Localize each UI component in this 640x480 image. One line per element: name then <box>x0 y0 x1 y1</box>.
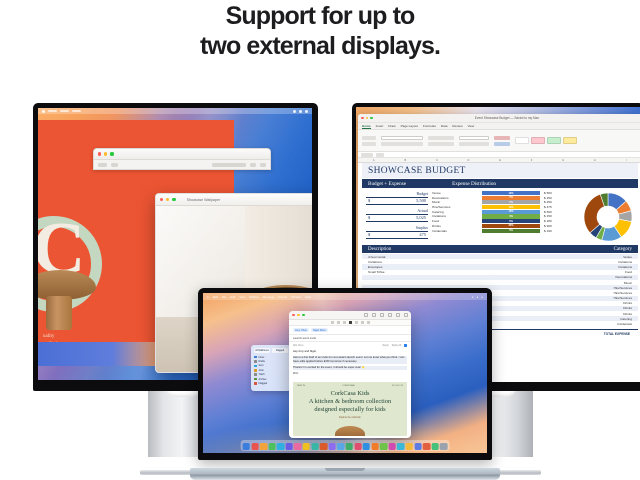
section-budget-expense: Budget + Expense <box>368 181 406 187</box>
distribution-category: Music <box>432 200 478 204</box>
sidebar-item-label: Trash <box>259 373 265 376</box>
dock-app-icon[interactable] <box>406 443 413 450</box>
recipient-chip[interactable]: Amy Chen <box>293 328 309 332</box>
cell-category: Food <box>625 270 632 274</box>
sidebar-item-label: Inbox <box>259 356 265 359</box>
menu-message[interactable]: Message <box>263 295 274 299</box>
kpi-actual-value: 5,025 <box>416 215 426 220</box>
tab-draw[interactable]: Draw <box>388 124 395 128</box>
kpi-group: Budget $ 5,500 Actual $ <box>366 191 428 243</box>
dock-app-icon[interactable] <box>414 443 421 450</box>
invite-card-attachment[interactable]: NEW IN CORKCASA 03 / 04 / 25 CorkCasa Ki… <box>293 382 407 436</box>
sidebar-item-label: Archive <box>259 378 267 381</box>
font-style-buttons[interactable] <box>381 142 423 146</box>
clock-label[interactable]: ● <box>481 295 483 299</box>
distribution-bar: 5% <box>482 219 540 223</box>
cell-category: Drinks <box>623 306 632 310</box>
mailbox-icon <box>254 373 257 376</box>
dock-app-icon[interactable] <box>268 443 275 450</box>
mail-signature: W.C. <box>293 372 407 376</box>
card-eyebrow-right: 03 / 04 / 25 <box>392 385 403 387</box>
dock-app-icon[interactable] <box>440 443 447 450</box>
font-name-input[interactable] <box>381 136 423 140</box>
list-icon[interactable] <box>355 321 358 324</box>
align-icon[interactable] <box>361 321 364 324</box>
column-d[interactable]: D <box>453 159 485 162</box>
mailbox-icon <box>254 360 257 363</box>
card-eyebrow-left: NEW IN <box>297 385 305 387</box>
forward-icon[interactable] <box>388 313 392 317</box>
mail-sender: Wei Chen <box>293 344 303 347</box>
menu-window[interactable]: Window <box>291 295 301 299</box>
column-b[interactable]: B <box>390 159 422 162</box>
conditional-group[interactable] <box>494 136 510 146</box>
mailbox-icon <box>254 365 257 368</box>
tab-review[interactable]: Review <box>452 124 462 128</box>
search-icon[interactable] <box>404 313 408 317</box>
distribution-bar: 5% <box>482 229 540 233</box>
kpi-surplus-value-row: $ 475 <box>366 232 428 240</box>
paste-icon[interactable] <box>362 136 376 140</box>
copy-icon[interactable] <box>362 142 376 146</box>
column-a[interactable]: A <box>358 159 390 162</box>
distribution-amount: $ 475 <box>544 205 574 209</box>
tab-view[interactable]: View <box>468 124 475 128</box>
cell-category: Hire/Services <box>614 296 632 300</box>
dock-app-icon[interactable] <box>363 443 370 450</box>
distribution-bar: 7% <box>482 200 540 204</box>
formula-input[interactable] <box>387 153 427 157</box>
kpi-budget-value: 5,500 <box>416 198 426 203</box>
distribution-bar: 30% <box>482 224 540 228</box>
cell-category: Hire/Services <box>614 291 632 295</box>
unread-badge <box>404 344 407 347</box>
kpi-budget: Budget $ 5,500 <box>366 191 428 205</box>
distribution-category: Decorations <box>432 196 478 200</box>
align-buttons[interactable] <box>428 136 454 140</box>
menu-item[interactable] <box>60 110 69 112</box>
card-eyebrow-center: CORKCASA <box>342 385 354 387</box>
background-app-window[interactable] <box>93 148 271 170</box>
currency-symbol: $ <box>368 215 370 220</box>
sidebar-item-label: Drafts <box>259 360 265 363</box>
tab-page-layout[interactable]: Page Layout <box>401 124 418 128</box>
table-headers: Description Category <box>362 245 638 253</box>
distribution-bar: 12% <box>482 205 540 209</box>
conditional-formatting-icon[interactable] <box>494 136 510 140</box>
wrap-merge-buttons[interactable] <box>428 142 454 146</box>
mail-actions[interactable]: Reply Reply All <box>383 344 407 347</box>
column-h[interactable]: H <box>579 159 611 162</box>
apple-logo-icon[interactable]: ● <box>207 295 209 299</box>
distribution-category: Incidentals <box>432 229 478 233</box>
battery-icon[interactable]: ● <box>477 295 479 299</box>
dock-app-icon[interactable] <box>243 443 250 450</box>
column-g[interactable]: G <box>547 159 579 162</box>
dock-app-icon[interactable] <box>320 443 327 450</box>
summary-row: Budget $ 5,500 Actual $ <box>362 188 638 243</box>
tab-insert[interactable]: Insert <box>376 124 384 128</box>
close-icon[interactable] <box>98 152 101 155</box>
cell-category: Music <box>624 281 632 285</box>
toolbar-button[interactable] <box>98 163 107 167</box>
distribution-amount: $ 250 <box>544 196 574 200</box>
cell-description: Envelopes <box>368 265 382 269</box>
distribution-bars: 13%7%7%12%13%4%5%30%5% <box>482 191 540 243</box>
distribution-bar: 13% <box>482 191 540 195</box>
dock-app-icon[interactable] <box>251 443 258 450</box>
mailbox-icon <box>254 378 257 381</box>
tab-home[interactable]: Home <box>362 124 371 129</box>
minimize-icon[interactable] <box>166 198 169 201</box>
mail-toolbar[interactable] <box>364 313 408 317</box>
cell-category: Venue <box>623 255 632 259</box>
currency-symbol: $ <box>368 198 370 203</box>
cell-category: Hire/Services <box>614 286 632 290</box>
dock-app-icon[interactable] <box>311 443 318 450</box>
dock-app-icon[interactable] <box>380 443 387 450</box>
spreadsheet-window-title: Event Showcase Budget — Saved to my Mac <box>475 116 539 120</box>
spreadsheet-titlebar[interactable]: Event Showcase Budget — Saved to my Mac <box>358 114 640 123</box>
dock-app-icon[interactable] <box>397 443 404 450</box>
distribution-category: Venue <box>432 191 478 195</box>
distribution-amount: $ 500 <box>544 191 574 195</box>
close-icon[interactable] <box>361 117 364 120</box>
preview-titlebar[interactable]: Showcase Wallpaper <box>156 194 312 206</box>
ribbon-tabs[interactable]: Home Insert Draw Page Layout Formulas Da… <box>358 123 640 130</box>
budget-title: SHOWCASE BUDGET <box>362 163 638 178</box>
sidebar-item-flagged[interactable]: Flagged <box>254 381 288 385</box>
sidebar-mailbox-list[interactable]: InboxDraftsSentJunkTrashArchiveFlagged <box>254 355 288 386</box>
dock[interactable] <box>241 440 450 451</box>
table-header-description: Description <box>368 247 391 252</box>
cell-description: 4 hour rental <box>368 255 385 259</box>
format-as-table-icon[interactable] <box>494 142 510 146</box>
text-color-icon[interactable] <box>349 321 352 324</box>
laptop-menu-status[interactable]: ● ● ● <box>472 295 483 299</box>
card-heading: CorkCasa Kids A kitchen & bedroom collec… <box>297 390 403 415</box>
menu-mailbox[interactable]: Mailbox <box>249 295 259 299</box>
sidebar-tabs[interactable]: All Mailboxes Flagged <box>254 348 288 353</box>
dock-app-icon[interactable] <box>388 443 395 450</box>
mailbox-icon <box>254 356 257 359</box>
column-f[interactable]: F <box>516 159 548 162</box>
recipient-chip[interactable]: Nigel Ross <box>311 328 328 332</box>
mail-sidebar[interactable]: All Mailboxes Flagged InboxDraftsSentJun… <box>251 345 291 391</box>
distribution-bar: 13% <box>482 210 540 214</box>
section-headers: Budget + Expense Expense Distribution <box>362 179 638 188</box>
window-toolbar[interactable] <box>94 160 270 170</box>
laptop-lid: ● Mail File Edit View Mailbox Message Fo… <box>198 288 492 460</box>
ribbon-toolbar[interactable] <box>358 130 640 152</box>
headline-line-1: Support for up to <box>226 2 415 32</box>
distribution-bar: 7% <box>482 196 540 200</box>
mail-subject: Launch event invite <box>289 335 411 342</box>
kpi-surplus: Surplus $ 475 <box>366 225 428 239</box>
menu-help[interactable]: Help <box>305 295 311 299</box>
style-neutral[interactable] <box>563 137 577 144</box>
distribution-bar: 4% <box>482 214 540 218</box>
toolbar-button[interactable] <box>111 163 118 167</box>
delete-icon[interactable] <box>364 313 368 317</box>
dock-app-icon[interactable] <box>346 443 353 450</box>
menu-bar-status[interactable] <box>293 110 308 113</box>
distribution-categories: VenueDecorationsMusicHire/ServicesCateri… <box>432 191 478 243</box>
bold-icon[interactable] <box>331 321 334 324</box>
mail-paragraph: Here's a first draft of an invite for ne… <box>293 356 407 364</box>
laptop-screen: ● Mail File Edit View Mailbox Message Fo… <box>203 293 487 453</box>
wifi-icon[interactable]: ● <box>472 295 474 299</box>
number-format-buttons[interactable] <box>459 142 489 146</box>
dock-app-icon[interactable] <box>260 443 267 450</box>
distribution-amount: $ 180 <box>544 219 574 223</box>
menu-mail[interactable]: Mail <box>213 295 218 299</box>
battery-icon[interactable] <box>299 110 302 113</box>
currency-symbol: $ <box>368 232 370 237</box>
mailbox-icon <box>254 369 257 372</box>
function-icon[interactable] <box>376 153 384 157</box>
distribution-amount: $ 150 <box>544 214 574 218</box>
tab-data[interactable]: Data <box>441 124 448 128</box>
card-eyebrow: NEW IN CORKCASA 03 / 04 / 25 <box>297 385 403 387</box>
page-title: Support for up to two external displays. <box>0 0 640 62</box>
close-icon[interactable] <box>160 198 163 201</box>
menu-item[interactable] <box>72 110 81 112</box>
sidebar-item-label: Flagged <box>259 382 268 385</box>
apple-logo-icon[interactable] <box>42 110 45 113</box>
column-i[interactable]: I <box>611 159 640 162</box>
font-group[interactable] <box>381 136 423 146</box>
card-title: CorkCasa Kids <box>331 390 370 397</box>
cell-category: Incidentals <box>617 322 632 326</box>
mail-window[interactable]: Amy Chen Nigel Ross Launch event invite … <box>289 311 411 438</box>
cell-category: Drinks <box>623 301 632 305</box>
kpi-budget-value-row: $ 5,500 <box>366 198 428 206</box>
kpi-actual: Actual $ 5,025 <box>366 208 428 222</box>
window-titlebar[interactable] <box>94 149 270 160</box>
section-expense-distribution: Expense Distribution <box>452 181 496 187</box>
maximize-icon[interactable] <box>370 117 373 120</box>
dock-app-icon[interactable] <box>286 443 293 450</box>
control-center-icon[interactable] <box>305 110 308 113</box>
minimize-icon[interactable] <box>366 117 369 120</box>
product-marketing-screenshot: Support for up to two external displays. <box>0 0 640 480</box>
column-e[interactable]: E <box>484 159 516 162</box>
cell-description: Small Tchke <box>368 270 385 274</box>
maximize-icon[interactable] <box>302 314 305 317</box>
mail-closing: Thanks! I'm excited for the event, it sh… <box>293 366 407 370</box>
search-input[interactable] <box>212 163 246 167</box>
style-bad[interactable] <box>531 137 545 144</box>
sidebar-item-label: Junk <box>259 369 264 372</box>
total-expense-label: TOTAL EXPENSE <box>604 332 630 336</box>
headline-line-2: two external displays. <box>200 32 440 62</box>
cell-category: Invitations <box>618 265 632 269</box>
cell-category: Invitations <box>618 260 632 264</box>
reply-all-label[interactable]: Reply All <box>392 344 401 347</box>
style-normal[interactable] <box>515 137 529 144</box>
mail-titlebar[interactable] <box>289 311 411 320</box>
distribution-category: Hire/Services <box>432 205 478 209</box>
sidebar-item-label: Sent <box>259 364 264 367</box>
clipboard-group[interactable] <box>362 136 376 146</box>
distribution-category: Catering <box>432 210 478 214</box>
style-good[interactable] <box>547 137 561 144</box>
laptop-trackpad-notch <box>325 468 365 471</box>
italic-icon[interactable] <box>337 321 340 324</box>
kpi-actual-value-row: $ 5,025 <box>366 215 428 223</box>
number-format-select[interactable] <box>459 136 489 140</box>
menu-bar[interactable] <box>38 108 312 114</box>
column-c[interactable]: C <box>421 159 453 162</box>
menu-edit[interactable]: Edit <box>230 295 235 299</box>
cork-stem-shape <box>46 296 72 330</box>
tab-formulas[interactable]: Formulas <box>423 124 436 128</box>
cell-category: Drinks <box>623 312 632 316</box>
laptop-menu-bar[interactable]: ● Mail File Edit View Mailbox Message Fo… <box>203 293 487 300</box>
distribution-category: Food <box>432 219 478 223</box>
distribution-amounts: $ 500$ 250$ 250$ 475$ 500$ 150$ 180$ 900… <box>544 191 574 243</box>
card-subtitle: A kitchen & bedroom collection designed … <box>309 398 391 413</box>
close-icon[interactable] <box>292 314 295 317</box>
cell-description: Invitations <box>368 260 382 264</box>
menu-format[interactable]: Format <box>278 295 287 299</box>
dock-app-icon[interactable] <box>303 443 310 450</box>
cell-styles-gallery[interactable] <box>515 137 577 144</box>
menu-item[interactable] <box>48 110 57 112</box>
dock-app-icon[interactable] <box>277 443 284 450</box>
donut-chart-container[interactable] <box>578 191 638 243</box>
more-icon[interactable] <box>260 163 266 167</box>
sidebar-tab-all-mailboxes[interactable]: All Mailboxes <box>254 348 270 353</box>
cell-category: Decorations <box>615 275 632 279</box>
reply-label[interactable]: Reply <box>383 344 389 347</box>
maximize-icon[interactable] <box>110 152 113 155</box>
number-group[interactable] <box>459 136 489 146</box>
archive-icon[interactable] <box>372 313 376 317</box>
menu-view[interactable]: View <box>239 295 245 299</box>
dock-app-icon[interactable] <box>337 443 344 450</box>
mail-recipients-row[interactable]: Amy Chen Nigel Ross <box>289 326 411 335</box>
name-box[interactable] <box>361 153 373 157</box>
mailbox-icon <box>254 382 257 385</box>
menu-file[interactable]: File <box>222 295 227 299</box>
table-header-category: Category <box>614 247 632 252</box>
reply-icon[interactable] <box>380 313 384 317</box>
kpi-surplus-value: 475 <box>419 232 426 237</box>
mail-greeting: Hey Amy and Nigel, <box>293 350 407 354</box>
distribution-category: Invitations <box>432 214 478 218</box>
maximize-icon[interactable] <box>172 198 175 201</box>
attach-icon[interactable] <box>367 321 370 324</box>
flag-icon[interactable] <box>396 313 400 317</box>
distribution-amount: $ 250 <box>544 200 574 204</box>
distribution-amount: $ 900 <box>544 224 574 228</box>
distribution-amount: $ 500 <box>544 210 574 214</box>
sidebar-tab-flagged[interactable]: Flagged <box>272 348 288 353</box>
distribution-amount: $ 190 <box>544 229 574 233</box>
preview-window-title: Showcase Wallpaper <box>187 198 221 202</box>
macbook-air: ● Mail File Edit View Mailbox Message Fo… <box>190 288 500 480</box>
minimize-icon[interactable] <box>297 314 300 317</box>
alignment-group[interactable] <box>428 136 454 146</box>
laptop-base <box>190 468 500 480</box>
distribution-category: Drinks <box>432 224 478 228</box>
card-bowl-image <box>335 426 365 436</box>
dock-app-icon[interactable] <box>371 443 378 450</box>
dock-app-icon[interactable] <box>294 443 301 450</box>
dock-app-icon[interactable] <box>328 443 335 450</box>
dock-app-icon[interactable] <box>431 443 438 450</box>
wifi-icon[interactable] <box>293 110 296 113</box>
minimize-icon[interactable] <box>104 152 107 155</box>
share-icon[interactable] <box>250 163 256 167</box>
underline-icon[interactable] <box>343 321 346 324</box>
dock-app-icon[interactable] <box>354 443 361 450</box>
cell-category: Catering <box>620 317 632 321</box>
mail-body: Hey Amy and Nigel, Here's a first draft … <box>289 348 411 380</box>
card-cta[interactable]: Explore the collection <box>297 417 403 419</box>
dock-app-icon[interactable] <box>423 443 430 450</box>
expense-donut-chart[interactable] <box>582 191 634 243</box>
